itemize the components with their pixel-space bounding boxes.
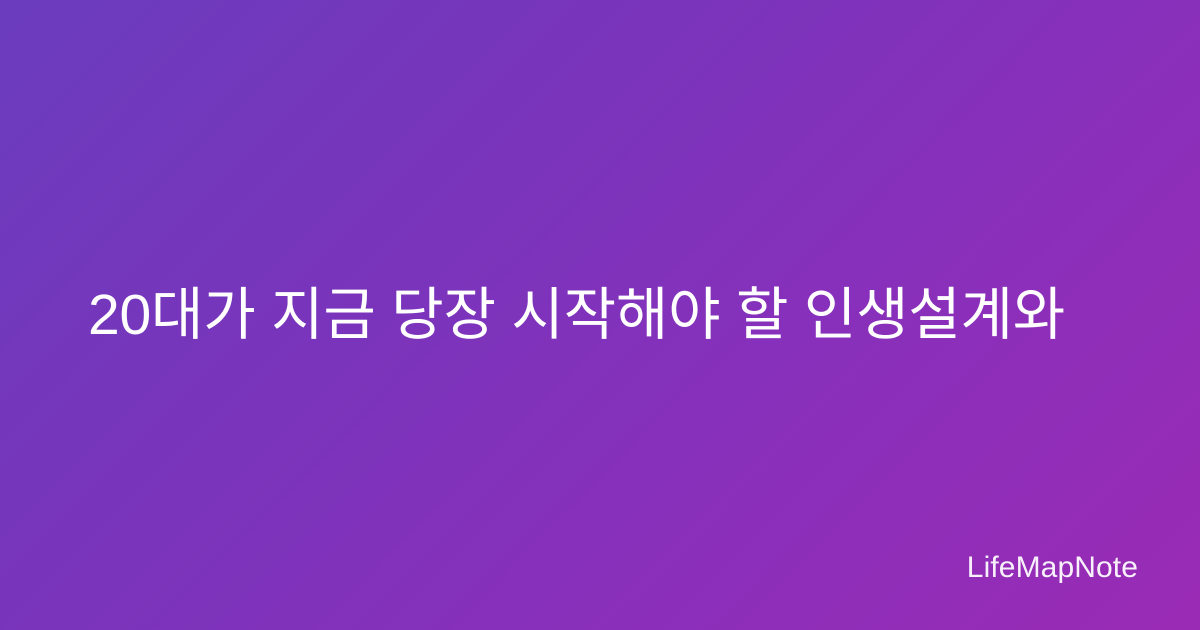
- page-title: 20대가 지금 당장 시작해야 할 인생설계와: [88, 279, 1138, 352]
- og-card: 20대가 지금 당장 시작해야 할 인생설계와 LifeMapNote: [0, 0, 1200, 630]
- card-content: 20대가 지금 당장 시작해야 할 인생설계와: [0, 0, 1200, 630]
- brand-watermark: LifeMapNote: [967, 553, 1138, 583]
